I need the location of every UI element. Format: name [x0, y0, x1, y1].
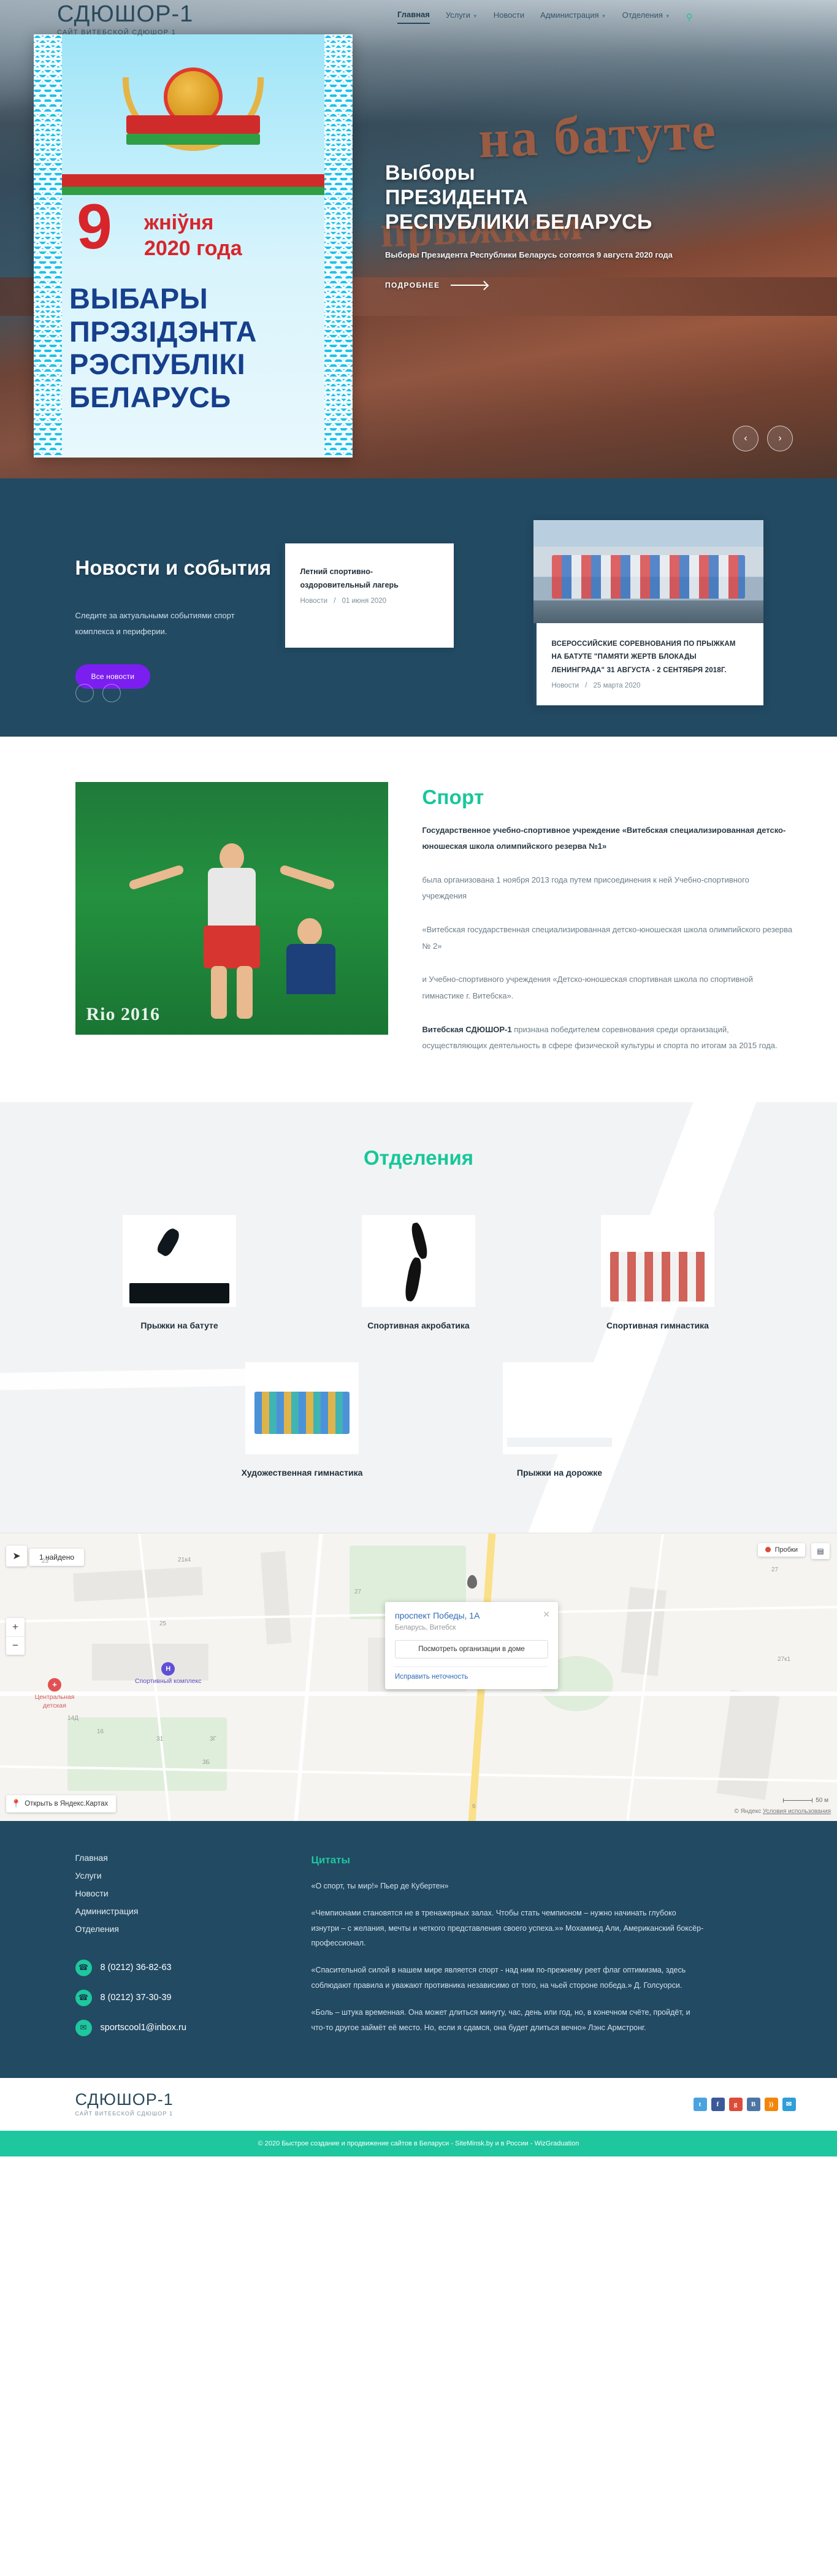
map-house-number: 3Б: [202, 1759, 210, 1766]
nav-item-administration-label: Администрация: [540, 10, 599, 20]
footer-quotes: Цитаты «О спорт, ты мир!» Пьер де Куберт…: [278, 1853, 796, 2050]
contact-phone-1-value: 8 (0212) 36-82-63: [101, 1963, 172, 1972]
quotes-heading: Цитаты: [311, 1854, 796, 1866]
hero-title: Выборы ПРЕЗИДЕНТА РЕСПУБЛИКИ БЕЛАРУСЬ: [385, 161, 778, 234]
news-intro: Новости и события Следите за актуальными…: [42, 514, 281, 689]
poster-ornament-right: [324, 34, 353, 458]
news-card-photo: [533, 520, 763, 623]
contact-phone-1[interactable]: ☎ 8 (0212) 36-82-63: [75, 1960, 278, 1976]
departments-section: Отделения Прыжки на батуте Спортивная ак…: [0, 1102, 837, 1533]
map-house-number: 27к1: [778, 1656, 790, 1663]
poster-title: ВЫБАРЫ ПРЭЗІДЭНТА РЭСПУБЛІКІ БЕЛАРУСЬ: [69, 282, 317, 413]
trampoline-photo: [123, 1215, 236, 1307]
site-logo-title: СДЮШОР-1: [57, 2, 353, 26]
news-card-date: 01 июня 2020: [342, 597, 386, 605]
department-item-rhythmic-gymnastics[interactable]: Художественная гимнастика: [210, 1362, 394, 1478]
department-item-trampoline[interactable]: Прыжки на батуте: [88, 1215, 272, 1330]
card-accent-bar: [533, 623, 537, 705]
nav-item-news-label: Новости: [494, 10, 524, 20]
map-zoom-in-button[interactable]: +: [6, 1618, 25, 1636]
nav-item-home[interactable]: Главная: [397, 10, 430, 24]
news-heading: Новости и события: [75, 554, 281, 582]
footer-contacts: ☎ 8 (0212) 36-82-63 ☎ 8 (0212) 37-30-39 …: [75, 1960, 278, 2036]
site-logo-subtitle: САЙТ ВИТЕБСКОЙ СДЮШОР 1: [57, 29, 353, 36]
department-label: Прыжки на дорожке: [468, 1468, 652, 1478]
hero-title-line-1: Выборы: [385, 161, 778, 185]
news-card-title: Летний спортивно-оздоровительный лагерь: [300, 565, 438, 592]
map-marker-pin[interactable]: [467, 1575, 477, 1589]
sport-paragraph-3: и Учебно-спортивного учреждения «Детско-…: [422, 972, 796, 1004]
view-organizations-button[interactable]: Посмотреть организации в доме: [395, 1640, 548, 1658]
chevron-down-icon: ▼: [473, 13, 478, 19]
nav-item-departments-label: Отделения: [622, 10, 663, 20]
news-dot-1[interactable]: [75, 684, 94, 702]
quote-3: «Спасительной силой в нашем мире являетс…: [311, 1963, 704, 1993]
poster-year: 2020 года: [144, 237, 242, 261]
map-house-number: 25: [159, 1620, 166, 1627]
map-house-number: 21к4: [178, 1557, 191, 1563]
sport-paragraph-2: «Витебская государственная специализиров…: [422, 922, 796, 954]
hero-description: Выборы Президента Республики Беларусь со…: [385, 248, 704, 263]
map-house-number: 6: [472, 1803, 476, 1810]
mail-icon: ✉: [75, 2020, 92, 2036]
sport-lead: Государственное учебно-спортивное учрежд…: [422, 822, 796, 855]
news-slider-dots: [75, 684, 121, 702]
header-bar: СДЮШОР-1 САЙТ ВИТЕБСКОЙ СДЮШОР 1 Главная…: [0, 0, 837, 36]
poster-title-line-4: БЕЛАРУСЬ: [69, 381, 317, 414]
divider: [395, 1666, 548, 1667]
map-section[interactable]: ➤ 1 найдено + − Пробки ▤ H Спортивный ко…: [0, 1533, 837, 1821]
site-logo[interactable]: СДЮШОР-1 САЙТ ВИТЕБСКОЙ СДЮШОР 1: [34, 5, 353, 33]
map-scale-label: 50 м: [816, 1797, 828, 1804]
quote-2: «Чемпионами становятся не в тренажерных …: [311, 1906, 704, 1950]
footer-logo-title: СДЮШОР-1: [75, 2091, 259, 2108]
sport-heading: Спорт: [422, 786, 796, 809]
news-description: Следите за актуальными событиями спорт к…: [75, 608, 253, 640]
bottom-bar: СДЮШОР-1 САЙТ ВИТЕБСКОЙ СДЮШОР 1 t f g B…: [0, 2078, 837, 2131]
sport-section: Rio 2016 Спорт Государственное учебно-сп…: [0, 737, 837, 1102]
nav-item-services[interactable]: Услуги▼: [446, 10, 478, 23]
departments-row-2: Художественная гимнастика Прыжки на доро…: [88, 1362, 750, 1478]
news-card-meta: Новости / 01 июня 2020: [300, 597, 438, 605]
news-card[interactable]: Летний спортивно-оздоровительный лагерь …: [282, 543, 454, 648]
sport-inner: Rio 2016 Спорт Государственное учебно-сп…: [42, 782, 796, 1054]
news-card-title: ВСЕРОССИЙСКИЕ СОРЕВНОВАНИЯ ПО ПРЫЖКАМ НА…: [552, 638, 747, 677]
departments-heading: Отделения: [0, 1146, 837, 1170]
hero-slider-controls: ‹ ›: [733, 426, 793, 451]
map-house-number: 27: [771, 1566, 778, 1573]
map-balloon[interactable]: ✕ проспект Победы, 1А Беларусь, Витебск …: [385, 1602, 558, 1689]
belarus-emblem-icon: [117, 49, 270, 172]
nav-item-news[interactable]: Новости: [494, 10, 524, 23]
sport-photo: Rio 2016: [75, 782, 388, 1035]
department-label: Спортивная гимнастика: [566, 1321, 750, 1330]
map-terms-link[interactable]: Условия использования: [763, 1808, 831, 1815]
contact-phone-2[interactable]: ☎ 8 (0212) 37-30-39: [75, 1990, 278, 2006]
map-house-number: 16: [97, 1728, 104, 1735]
sport-text: Спорт Государственное учебно-спортивное …: [422, 782, 796, 1054]
news-card-separator: /: [585, 682, 587, 689]
footer-navigation: Главная Услуги Новости Администрация Отд…: [75, 1853, 278, 2050]
poster-title-line-1: ВЫБАРЫ: [69, 282, 317, 315]
twitter-icon[interactable]: t: [694, 2098, 707, 2111]
page-root: на батуте прыжкам 9 жніўня 2020 года ВЫБ…: [0, 0, 837, 2156]
contact-phone-2-value: 8 (0212) 37-30-39: [101, 1993, 172, 2003]
news-card-separator: /: [334, 597, 335, 605]
news-card-category: Новости: [552, 682, 579, 689]
department-item-artistic-gymnastics[interactable]: Спортивная гимнастика: [566, 1215, 750, 1330]
map-house-number: 23: [42, 1558, 48, 1565]
mail-icon[interactable]: ✉: [782, 2098, 796, 2111]
quote-1: «О спорт, ты мир!» Пьер де Кубертен»: [311, 1879, 704, 1893]
hero-section: на батуте прыжкам 9 жніўня 2020 года ВЫБ…: [0, 0, 837, 478]
news-section: Новости и события Следите за актуальными…: [0, 478, 837, 737]
news-card-meta: Новости / 25 марта 2020: [552, 682, 747, 689]
acrobatics-photo: [362, 1215, 475, 1307]
rhythmic-gymnastics-photo: [245, 1362, 359, 1454]
map-credit-prefix: © Яндекс: [734, 1808, 761, 1815]
map-house-number: 14Д: [67, 1715, 78, 1722]
map-scale: 50 м: [783, 1797, 828, 1804]
map-balloon-subtitle: Беларусь, Витебск: [395, 1624, 548, 1631]
department-item-tumbling[interactable]: Прыжки на дорожке: [468, 1362, 652, 1478]
map-credit: © Яндекс Условия использования: [734, 1808, 831, 1815]
news-card[interactable]: ВСЕРОССИЙСКИЕ СОРЕВНОВАНИЯ ПО ПРЫЖКАМ НА…: [533, 520, 763, 705]
footer-nav-home[interactable]: Главная: [75, 1853, 278, 1863]
search-icon[interactable]: ⚲: [686, 12, 693, 23]
copyright-bar: © 2020 Быстрое создание и продвижение са…: [0, 2131, 837, 2156]
hero-prev-button[interactable]: ‹: [733, 426, 759, 451]
map-zoom-control: + −: [6, 1618, 25, 1655]
coach-figure: [281, 918, 340, 992]
artistic-gymnastics-photo: [601, 1215, 714, 1307]
footer-nav-services[interactable]: Услуги: [75, 1871, 278, 1880]
phone-icon: ☎: [75, 1990, 92, 2006]
news-dot-2[interactable]: [102, 684, 121, 702]
map-zoom-out-button[interactable]: −: [6, 1636, 25, 1655]
vk-icon[interactable]: B: [747, 2098, 760, 2111]
map-traffic-toggle[interactable]: Пробки: [758, 1543, 805, 1557]
facebook-icon[interactable]: f: [711, 2098, 725, 2111]
hero-title-line-2: ПРЕЗИДЕНТА: [385, 185, 778, 210]
arrow-right-icon: [451, 285, 487, 286]
footer-section: Главная Услуги Новости Администрация Отд…: [0, 1821, 837, 2078]
hero-copy: Выборы ПРЕЗИДЕНТА РЕСПУБЛИКИ БЕЛАРУСЬ Вы…: [385, 161, 778, 291]
nav-item-administration[interactable]: Администрация▼: [540, 10, 606, 23]
election-poster[interactable]: 9 жніўня 2020 года ВЫБАРЫ ПРЭЗІДЭНТА РЭС…: [34, 34, 353, 458]
google-plus-icon[interactable]: g: [729, 2098, 743, 2111]
hero-next-button[interactable]: ›: [767, 426, 793, 451]
map-balloon-title: проспект Победы, 1А: [395, 1611, 548, 1621]
bottom-inner: СДЮШОР-1 САЙТ ВИТЕБСКОЙ СДЮШОР 1 t f g B…: [42, 2091, 796, 2117]
contact-email-value: sportscool1@inbox.ru: [101, 2023, 186, 2033]
scale-bar-icon: [783, 1800, 812, 1801]
department-label: Художественная гимнастика: [210, 1468, 394, 1478]
layers-icon[interactable]: ▤: [811, 1543, 830, 1559]
news-card-date: 25 марта 2020: [594, 682, 641, 689]
poster-day: 9: [77, 199, 112, 256]
traffic-indicator-icon: [765, 1547, 771, 1552]
footer-nav-administration[interactable]: Администрация: [75, 1906, 278, 1916]
poster-title-line-3: РЭСПУБЛІКІ: [69, 348, 317, 381]
department-label: Прыжки на батуте: [88, 1321, 272, 1330]
nav-item-home-label: Главная: [397, 10, 430, 19]
social-links: t f g B )) ✉: [694, 2098, 796, 2111]
news-card-category: Новости: [300, 597, 328, 605]
news-inner: Новости и события Следите за актуальными…: [42, 514, 796, 689]
open-in-yandex-maps-label: Открыть в Яндекс.Картах: [25, 1800, 108, 1807]
contact-email[interactable]: ✉ sportscool1@inbox.ru: [75, 2020, 278, 2036]
map-house-number: 3Г: [210, 1736, 216, 1742]
poster-month: жніўня: [144, 211, 213, 235]
athlete-figure: [174, 868, 290, 1009]
copyright-text: © 2020 Быстрое создание и продвижение са…: [258, 2140, 579, 2147]
map-traffic-label: Пробки: [775, 1546, 798, 1554]
sport-paragraph-4: Витебская СДЮШОР-1 признана победителем …: [422, 1022, 796, 1054]
poster-title-line-2: ПРЭЗІДЭНТА: [69, 315, 317, 348]
chevron-down-icon: ▼: [665, 13, 670, 19]
footer-logo[interactable]: СДЮШОР-1 САЙТ ВИТЕБСКОЙ СДЮШОР 1: [75, 2091, 259, 2117]
rss-icon[interactable]: )): [765, 2098, 778, 2111]
close-icon[interactable]: ✕: [543, 1609, 550, 1620]
card-accent-bar: [282, 543, 285, 648]
news-card-body: ВСЕРОССИЙСКИЕ СОРЕВНОВАНИЯ ПО ПРЫЖКАМ НА…: [533, 623, 763, 705]
map-pin-icon: 📍: [11, 1799, 21, 1809]
footer-nav-news[interactable]: Новости: [75, 1888, 278, 1898]
map-found-badge: 1 найдено: [29, 1549, 84, 1566]
quote-4: «Боль – штука временная. Она может длить…: [311, 2005, 704, 2035]
map-house-number: 27: [354, 1589, 361, 1595]
nav-item-services-label: Услуги: [446, 10, 470, 20]
departments-row-1: Прыжки на батуте Спортивная акробатика С…: [88, 1215, 750, 1330]
hero-title-line-3: РЕСПУБЛИКИ БЕЛАРУСЬ: [385, 210, 778, 234]
tumbling-photo: [503, 1362, 616, 1454]
hero-more-label: ПОДРОБНЕЕ: [385, 281, 440, 289]
map-house-number: 31: [156, 1736, 163, 1742]
department-item-acrobatics[interactable]: Спортивная акробатика: [327, 1215, 511, 1330]
nav-item-departments[interactable]: Отделения▼: [622, 10, 670, 23]
sport-photo-caption: Rio 2016: [86, 1004, 161, 1025]
poster-ornament-left: [34, 34, 62, 458]
hero-more-button[interactable]: ПОДРОБНЕЕ: [385, 281, 487, 289]
chevron-down-icon: ▼: [602, 13, 606, 19]
footer-logo-subtitle: САЙТ ВИТЕБСКОЙ СДЮШОР 1: [75, 2110, 259, 2117]
open-in-yandex-maps-button[interactable]: 📍 Открыть в Яндекс.Картах: [6, 1795, 116, 1812]
report-inaccuracy-link[interactable]: Исправить неточность: [395, 1673, 548, 1681]
sport-paragraph-1: была организована 1 ноября 2013 года пут…: [422, 872, 796, 905]
main-navigation: Главная Услуги▼ Новости Администрация▼ О…: [397, 10, 693, 24]
locate-arrow-icon[interactable]: ➤: [6, 1546, 27, 1566]
sport-paragraph-4-bold: Витебская СДЮШОР-1: [422, 1025, 512, 1034]
footer-nav-departments[interactable]: Отделения: [75, 1924, 278, 1934]
department-label: Спортивная акробатика: [327, 1321, 511, 1330]
footer-inner: Главная Услуги Новости Администрация Отд…: [42, 1853, 796, 2050]
phone-icon: ☎: [75, 1960, 92, 1976]
